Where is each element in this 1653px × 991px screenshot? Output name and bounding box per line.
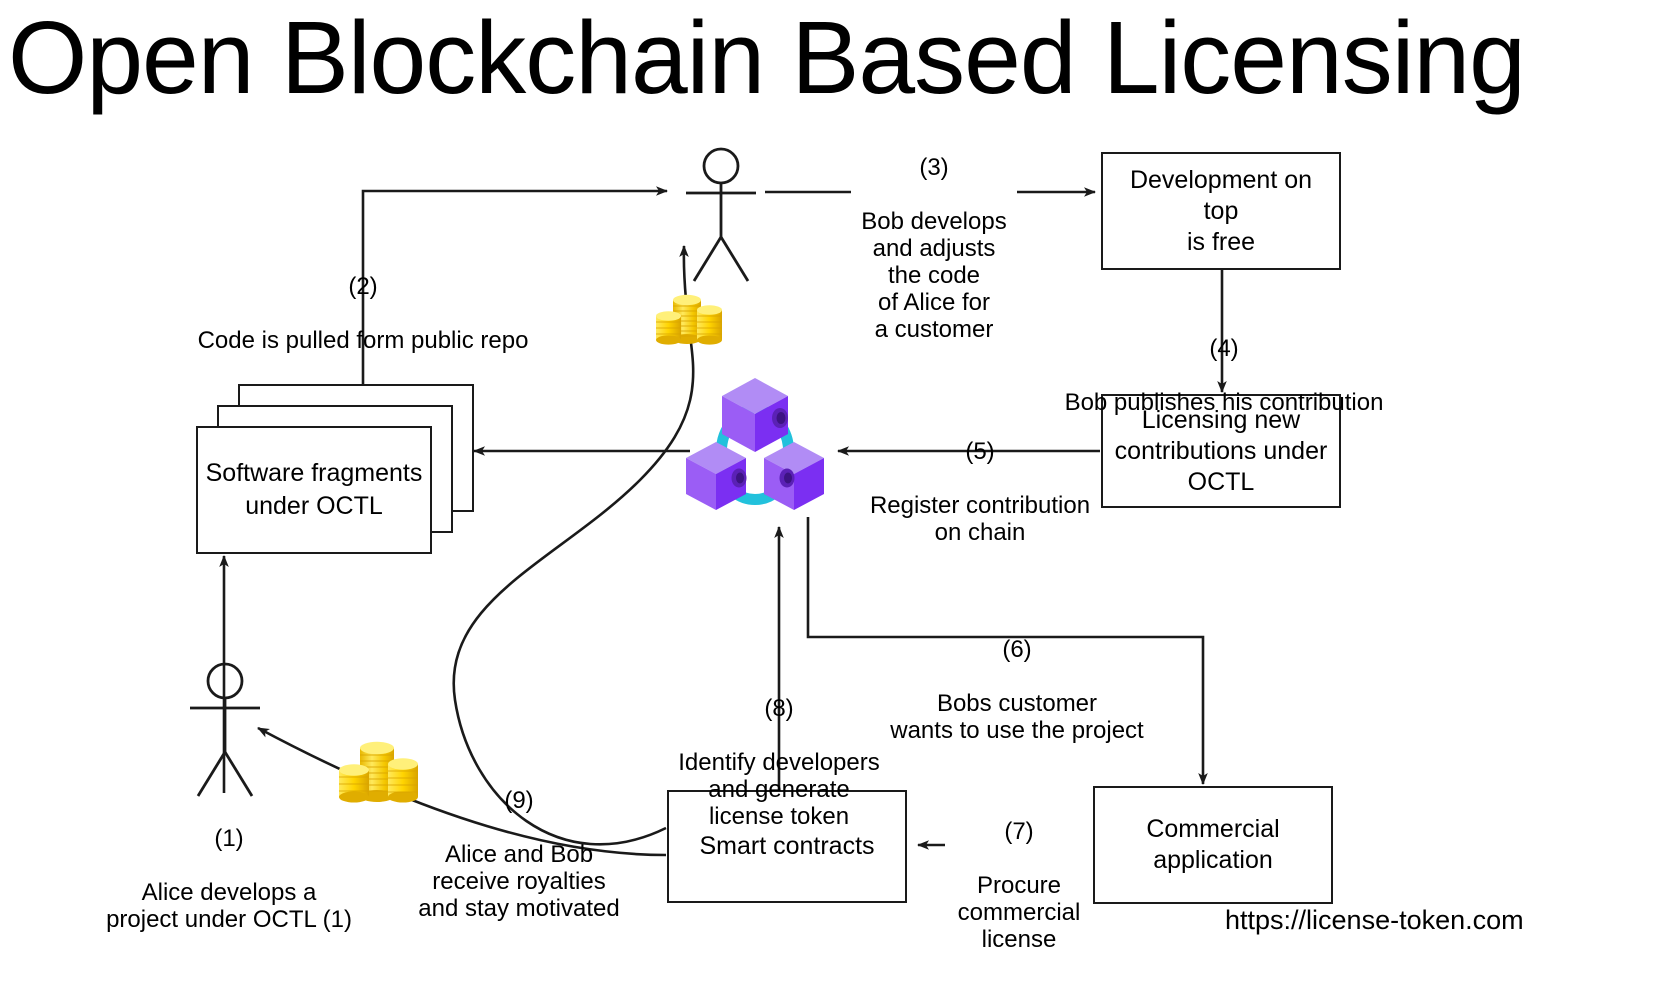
- step-1-label: (1) Alice develops a project under OCTL …: [64, 798, 394, 960]
- step-8-label: (8) Identify developers and generate lic…: [655, 668, 903, 857]
- alice-head: [208, 664, 242, 698]
- development-on-top-is-free-label: Development on top is free: [1111, 165, 1331, 258]
- blockchain-cubes-icon: [682, 376, 828, 518]
- step-6-label: (6) Bobs customer wants to use the proje…: [890, 609, 1144, 771]
- alice-leg-left: [198, 752, 225, 796]
- page-title: Open Blockchain Based Licensing: [8, 2, 1632, 114]
- step-7-text: Procure commercial license: [945, 872, 1093, 953]
- coin-stack-left: [656, 311, 681, 344]
- alice-stick-figure: [176, 660, 274, 800]
- bob-leg-left: [694, 237, 721, 281]
- step-9-label: (9) Alice and Bob receive royalties and …: [408, 760, 630, 949]
- development-on-top-is-free-box[interactable]: Development on top is free: [1101, 152, 1341, 270]
- step-5-text: Register contribution on chain: [858, 492, 1102, 546]
- coin-stack-icon-bob: [653, 288, 725, 348]
- coin-stack-left: [339, 764, 369, 802]
- step-3-number: (3): [851, 154, 1017, 181]
- step-5-number: (5): [858, 438, 1102, 465]
- step-3-label: (3) Bob develops and adjusts the code of…: [851, 127, 1017, 370]
- bob-stick-figure: [672, 145, 770, 285]
- step-5-label: (5) Register contribution on chain: [858, 411, 1102, 573]
- step-8-text: Identify developers and generate license…: [655, 749, 903, 830]
- step-7-label: (7) Procure commercial license: [945, 791, 1093, 980]
- diagram-canvas: Open Blockchain Based Licensing: [0, 0, 1653, 991]
- bob-leg-right: [721, 237, 748, 281]
- step-2-label: (2) Code is pulled form public repo: [161, 246, 565, 381]
- software-fragments-label: Software fragments under OCTL: [198, 457, 430, 523]
- step-6-number: (6): [890, 636, 1144, 663]
- step-9-text: Alice and Bob receive royalties and stay…: [408, 841, 630, 922]
- step-4-number: (4): [1059, 335, 1389, 362]
- step-7-number: (7): [945, 818, 1093, 845]
- step-9-number: (9): [408, 787, 630, 814]
- step-4-label: (4) Bob publishes his contribution: [1059, 308, 1389, 443]
- step-2-text: Code is pulled form public repo: [161, 327, 565, 354]
- software-fragments-card-front[interactable]: Software fragments under OCTL: [196, 426, 432, 554]
- step-2-number: (2): [161, 273, 565, 300]
- footer-url[interactable]: https://license-token.com: [1225, 905, 1524, 935]
- step-4-text: Bob publishes his contribution: [1059, 389, 1389, 416]
- step-6-text: Bobs customer wants to use the project: [890, 690, 1144, 744]
- software-fragments-stack[interactable]: Software fragments under OCTL: [196, 384, 476, 554]
- cube-top: [722, 378, 788, 452]
- step-3-text: Bob develops and adjusts the code of Ali…: [851, 208, 1017, 343]
- step-8-number: (8): [655, 695, 903, 722]
- alice-leg-right: [225, 752, 252, 796]
- bob-head: [704, 149, 738, 183]
- step-1-number: (1): [64, 825, 394, 852]
- coin-stack-right: [697, 305, 722, 344]
- commercial-application-box[interactable]: Commercial application: [1093, 786, 1333, 904]
- commercial-application-label: Commercial application: [1146, 814, 1279, 876]
- step-1-text: Alice develops a project under OCTL (1): [64, 879, 394, 933]
